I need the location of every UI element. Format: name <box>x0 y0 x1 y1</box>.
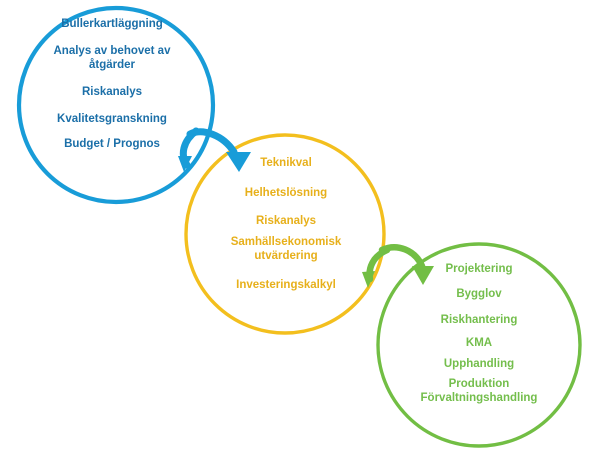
phase-circle-yellow <box>186 135 384 333</box>
green-arrow-head <box>412 266 434 285</box>
phase-circle-green <box>378 244 580 446</box>
diagram-graphics <box>0 0 600 454</box>
blue-arrow-head <box>226 152 251 172</box>
phase-circle-blue <box>19 8 213 202</box>
diagram-canvas: Bullerkartläggning Analys av behovet av … <box>0 0 600 454</box>
